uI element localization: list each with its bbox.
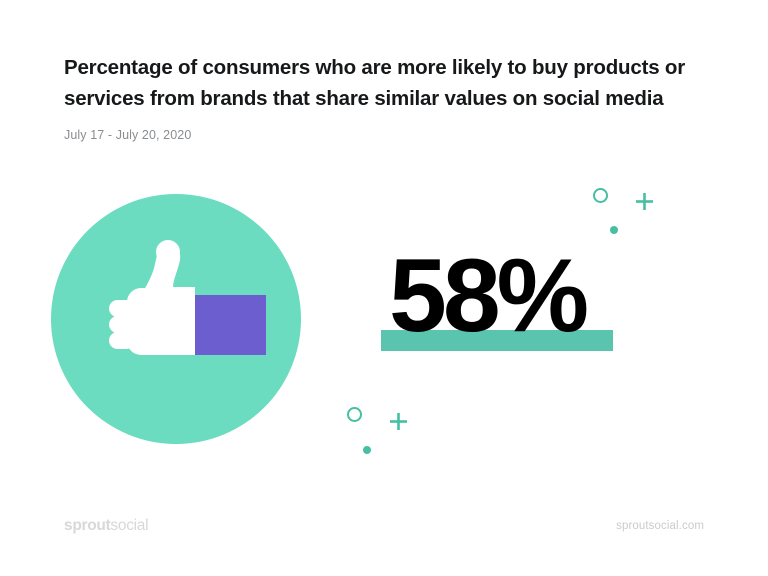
page-title: Percentage of consumers who are more lik… (64, 52, 704, 114)
dot-bottom-left-icon (363, 446, 371, 454)
knuckle-3 (109, 332, 135, 349)
logo-light-text: social (110, 517, 148, 534)
plus-bottom-left-icon (390, 413, 407, 430)
knuckle-1 (109, 300, 135, 317)
knuckle-2 (109, 316, 135, 333)
stat-value: 58% (389, 240, 585, 352)
date-range-label: July 17 - July 20, 2020 (64, 128, 704, 142)
stat-block: 58% (381, 240, 621, 355)
thumb-tip (156, 240, 180, 264)
site-url-label: sproutsocial.com (616, 520, 704, 532)
ring-bottom-left-icon (347, 407, 362, 422)
thumbs-up-illustration (51, 194, 301, 444)
sprout-social-logo: sproutsocial (64, 517, 148, 535)
headline-line-2: services from brands that share similar … (64, 83, 704, 114)
header: Percentage of consumers who are more lik… (64, 52, 704, 142)
logo-bold-text: sprout (64, 517, 110, 534)
headline-line-1: Percentage of consumers who are more lik… (64, 56, 685, 79)
ring-top-right-icon (593, 188, 608, 203)
plus-top-right-icon (636, 193, 653, 210)
hand-cuff-joint (169, 287, 195, 355)
dot-top-right-icon (610, 226, 618, 234)
thumbs-up-icon (51, 194, 301, 444)
infographic-canvas: Percentage of consumers who are more lik… (0, 0, 768, 576)
